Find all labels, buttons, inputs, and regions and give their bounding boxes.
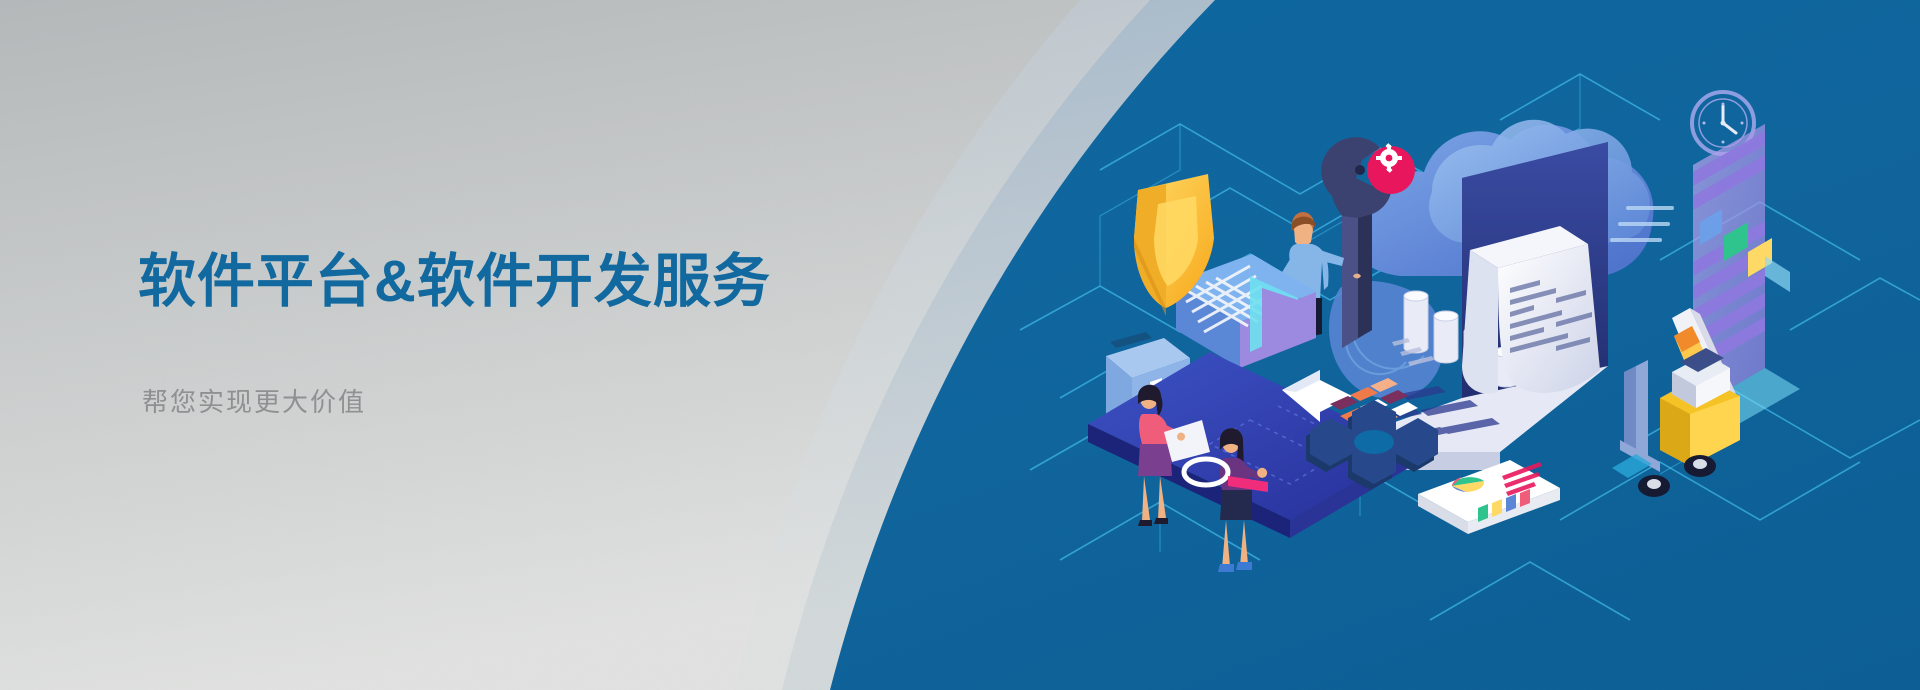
page-title: 软件平台&软件开发服务 bbox=[138, 250, 771, 315]
hero-text-block: 软件平台&软件开发服务 帮您实现更大价值 bbox=[138, 250, 771, 418]
receipt-icon bbox=[1462, 226, 1600, 394]
page-subtitle: 帮您实现更大价值 bbox=[142, 387, 771, 418]
forklift-icon bbox=[1612, 348, 1740, 497]
hero-banner: 软件平台&软件开发服务 帮您实现更大价值 bbox=[0, 0, 1920, 690]
news-card-icon bbox=[1418, 460, 1560, 534]
